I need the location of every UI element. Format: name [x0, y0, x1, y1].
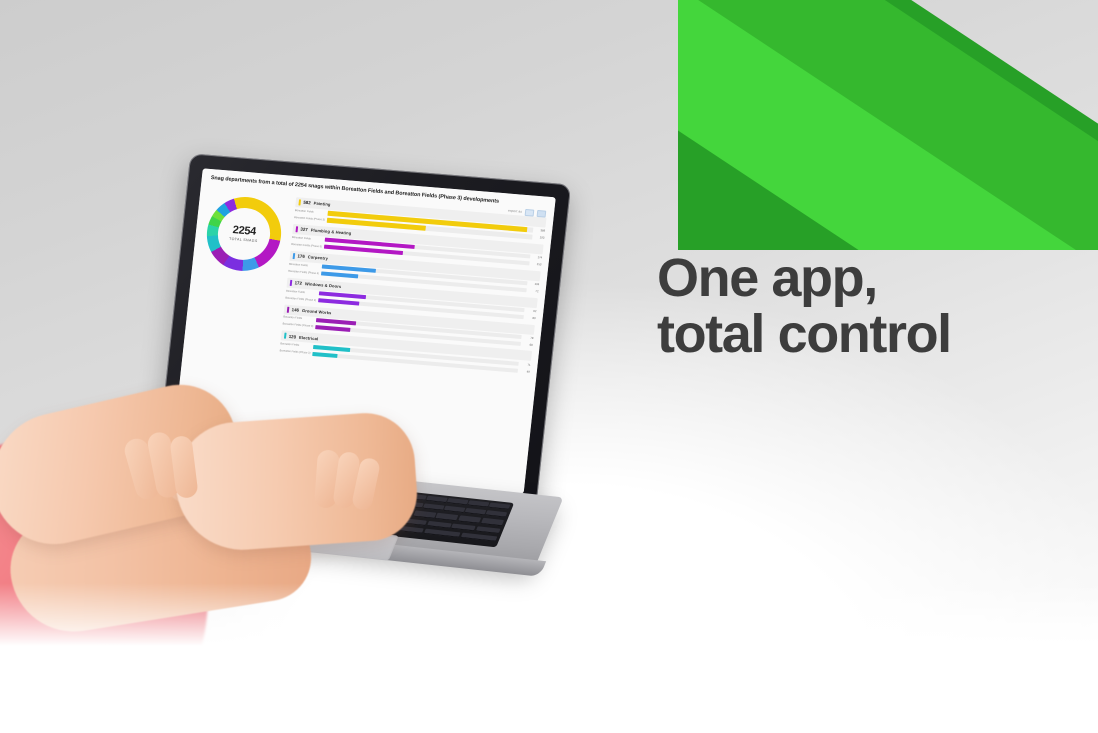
department-name: Carpentry [308, 254, 329, 261]
department-total: 146 [291, 307, 299, 313]
department-total: 327 [300, 227, 308, 233]
headline-line-2: total control [657, 306, 1057, 362]
total-snags-value: 2254 [232, 225, 256, 238]
export-csv-button[interactable] [537, 210, 547, 217]
bar [321, 271, 358, 279]
right-hand [172, 410, 420, 554]
bar-value: 78 [523, 335, 533, 340]
development-label: Boreatton Fields (Phase 3) [294, 216, 325, 222]
donut-chart[interactable]: 2254 TOTAL SNAGS [203, 194, 285, 274]
department-total: 120 [289, 334, 297, 340]
bar-value: 72 [528, 289, 538, 294]
total-snags-caption: TOTAL SNAGS [229, 237, 258, 243]
export-pdf-button[interactable] [525, 209, 535, 216]
department-total: 172 [294, 280, 302, 286]
table-surface [0, 583, 1098, 733]
development-label: Boreatton Fields (Phase 3) [288, 269, 319, 275]
bar-value: 389 [535, 228, 545, 233]
export-label: export as [508, 209, 522, 214]
bar-value: 92 [526, 308, 536, 313]
bar-value: 104 [529, 282, 539, 287]
bar [312, 352, 338, 359]
department-color-swatch [298, 199, 300, 205]
green-corner-graphic [678, 0, 1098, 250]
development-label: Boreatton Fields (Phase 3) [285, 296, 316, 302]
dashboard-body: 2254 TOTAL SNAGS 582PaintingBoreatton Fi… [190, 190, 546, 379]
keyboard-key[interactable] [460, 533, 497, 542]
department-name: Painting [313, 201, 330, 207]
department-color-swatch [296, 226, 298, 232]
development-label: Boreatton Fields (Phase 3) [291, 242, 322, 248]
department-color-swatch [290, 279, 292, 285]
donut-chart-panel: 2254 TOTAL SNAGS [190, 190, 289, 357]
department-name: Electrical [299, 335, 319, 342]
department-color-swatch [284, 333, 286, 339]
bar [315, 325, 350, 332]
department-name: Windows & Doors [305, 281, 342, 289]
development-label: Boreatton Fields (Phase 3) [282, 323, 313, 329]
department-bar-list: 582PaintingBoreatton Fields389Boreatton … [279, 197, 547, 378]
bar-value: 68 [523, 342, 533, 347]
promo-banner: Snag departments from a total of 2254 sn… [0, 0, 1098, 733]
headline: One app, total control [657, 250, 1057, 362]
department-name: Ground Works [302, 308, 332, 315]
department-total: 582 [303, 200, 311, 206]
bar-value: 193 [534, 235, 544, 240]
bar-value: 71 [520, 362, 530, 367]
donut-center-label: 2254 TOTAL SNAGS [203, 194, 285, 274]
headline-line-1: One app, [657, 248, 877, 308]
bar-value: 153 [531, 262, 541, 267]
bar-value: 174 [532, 255, 542, 260]
bar-value: 80 [525, 315, 535, 320]
bar-value: 49 [520, 369, 530, 374]
department-total: 176 [297, 254, 305, 260]
development-label: Boreatton Fields (Phase 3) [279, 350, 310, 356]
department-color-swatch [293, 253, 295, 259]
bar [318, 298, 360, 306]
department-color-swatch [287, 306, 289, 312]
